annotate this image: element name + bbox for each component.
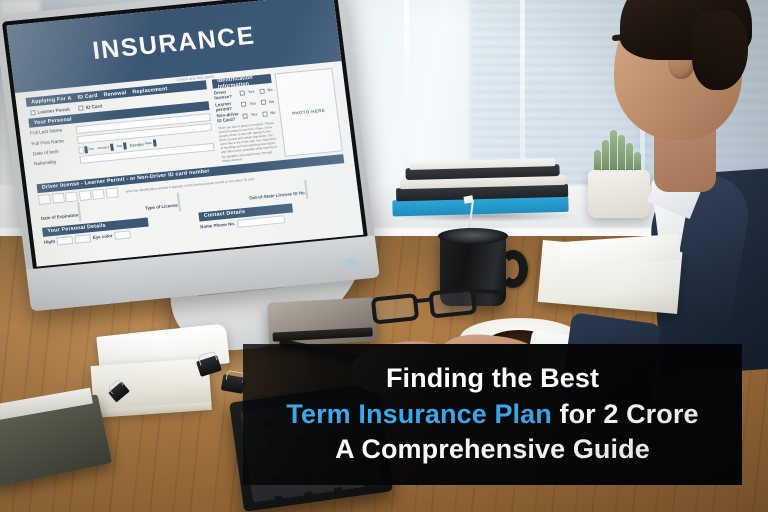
nationality-label: Nationality [34, 158, 76, 167]
license-digit-input[interactable] [78, 190, 91, 201]
option-label-id-card: ID Card [75, 92, 102, 101]
checkbox-icon[interactable] [78, 105, 84, 110]
height-feet-input[interactable] [57, 236, 74, 245]
checkbox-id-card[interactable]: ID Card [78, 104, 102, 111]
license-digit-input[interactable] [38, 194, 51, 205]
gender-field[interactable]: Gender Male [129, 139, 156, 149]
height-inches-input[interactable] [74, 234, 91, 243]
yes-no-group[interactable]: Yes No [243, 110, 276, 118]
hair-back [692, 10, 748, 90]
screenshot-stage: INSURANCE Check any that apply Applying … [0, 0, 768, 512]
stacked-books [391, 158, 574, 219]
height-label: Hight [44, 239, 56, 245]
checkbox-icon[interactable] [30, 110, 36, 115]
date-of-expiration-label: Date of Expiration [40, 212, 78, 221]
dob-year-label: Year [116, 144, 123, 149]
monitor-brand-logo-icon [339, 255, 362, 269]
checkbox-learner-permit-label: Learner Permit [37, 107, 70, 115]
dob-month-label: January [97, 145, 109, 150]
checkbox-icon[interactable] [240, 90, 246, 95]
radio-no[interactable]: No [261, 99, 275, 105]
dob-day-input[interactable] [78, 146, 84, 153]
dob-year-dropdown-icon[interactable] [123, 142, 127, 149]
checkbox-icon[interactable] [243, 113, 249, 118]
monitor-screen[interactable]: INSURANCE Check any that apply Applying … [6, 0, 363, 267]
paper-stack [91, 358, 212, 412]
form-left-column: Applying For A ID Card Renewal Replaceme… [26, 80, 217, 181]
eyeglasses-lens-right [428, 287, 477, 319]
identification-disclaimer: There are lots of places to explore. Ple… [218, 121, 281, 163]
title-overlay-banner: Finding the Best Term Insurance Plan for… [243, 344, 742, 485]
option-label-renewal: Renewal [101, 89, 131, 98]
eye-color-label: Eye color [93, 233, 113, 240]
insurance-form[interactable]: INSURANCE Check any that apply Applying … [6, 0, 363, 267]
overlay-line-2-rest: for 2 Crore [552, 399, 699, 429]
mug-rim [438, 228, 508, 244]
type-of-license-label: Type of License [145, 202, 178, 210]
checkbox-icon[interactable] [261, 100, 267, 105]
no-label: No [267, 88, 273, 92]
eyeglasses-temple [475, 289, 501, 294]
contact-details-label: Contact Details [201, 209, 249, 220]
checkbox-icon[interactable] [262, 111, 268, 116]
license-digit-input[interactable] [105, 187, 118, 198]
photo-placeholder-box[interactable]: PHOTO HERE [275, 68, 343, 157]
license-digit-input[interactable] [51, 192, 64, 203]
yes-label: Yes [249, 101, 256, 106]
yes-label: Yes [248, 90, 255, 95]
radio-yes[interactable]: Yes [240, 89, 255, 95]
no-label: No [269, 99, 275, 103]
yes-no-group[interactable]: Yes No [240, 87, 273, 95]
monitor-bezel: INSURANCE Check any that apply Applying … [2, 0, 368, 271]
form-body: Check any that apply Applying For A ID C… [15, 61, 362, 251]
driver-license-question: Driver license? [213, 88, 240, 100]
license-digit-input[interactable] [92, 188, 105, 199]
identification-panel: Identification Information Driver licens… [212, 74, 281, 163]
applying-for-label: Applying For A [29, 95, 76, 105]
radio-yes[interactable]: Yes [241, 101, 256, 107]
home-phone-label: Home Phone No. [200, 221, 236, 229]
desktop-monitor[interactable]: INSURANCE Check any that apply Applying … [0, 0, 380, 311]
checkbox-icon[interactable] [241, 102, 247, 107]
out-of-state-label: Out-of-State License ID No. [249, 190, 306, 201]
dob-month[interactable]: January [97, 143, 114, 151]
form-title: INSURANCE [91, 21, 257, 66]
option-label-replacement: Replacement [130, 85, 172, 95]
license-digit-input[interactable] [65, 191, 78, 202]
no-label: No [270, 111, 276, 115]
overlay-line-1: Finding the Best [386, 361, 599, 397]
full-last-name-label: Full Last Name [30, 128, 72, 137]
yes-label: Yes [251, 113, 258, 118]
eye-color-input[interactable] [114, 230, 131, 239]
gender-value: Male [145, 141, 152, 146]
dob-month-dropdown-icon[interactable] [110, 143, 114, 150]
gender-dropdown-icon[interactable] [152, 139, 156, 146]
non-driver-id-question: Non-driver ID Card? [216, 111, 243, 123]
checkbox-icon[interactable] [259, 88, 265, 93]
gender-label: Gender [129, 141, 144, 147]
eyeglasses-lens-left [371, 293, 420, 325]
dob-year[interactable]: Year [116, 142, 127, 150]
radio-yes[interactable]: Yes [243, 112, 258, 118]
overlay-accent-text: Term Insurance Plan [286, 399, 552, 429]
your-personal-label: Your Personal [31, 116, 76, 126]
radio-no[interactable]: No [262, 110, 276, 116]
yes-no-group[interactable]: Yes No [241, 99, 274, 107]
dob-day[interactable]: Day [78, 145, 94, 153]
date-of-birth-label: Date of birth [32, 148, 74, 157]
radio-no[interactable]: No [259, 87, 273, 93]
overlay-line-2: Term Insurance Plan for 2 Crore [286, 397, 698, 433]
full-first-name-label: Full First Name [31, 138, 73, 147]
out-of-state-input[interactable] [304, 180, 308, 199]
dob-day-label: Day [88, 146, 94, 151]
overlay-line-3: A Comprehensive Guide [335, 432, 650, 468]
form-right-column: Identification Information Driver licens… [212, 68, 343, 163]
date-of-expiration-input[interactable] [77, 202, 81, 221]
learner-permit-question: Learner permit? [215, 100, 242, 112]
checkbox-id-card-label: ID Card [85, 104, 102, 111]
